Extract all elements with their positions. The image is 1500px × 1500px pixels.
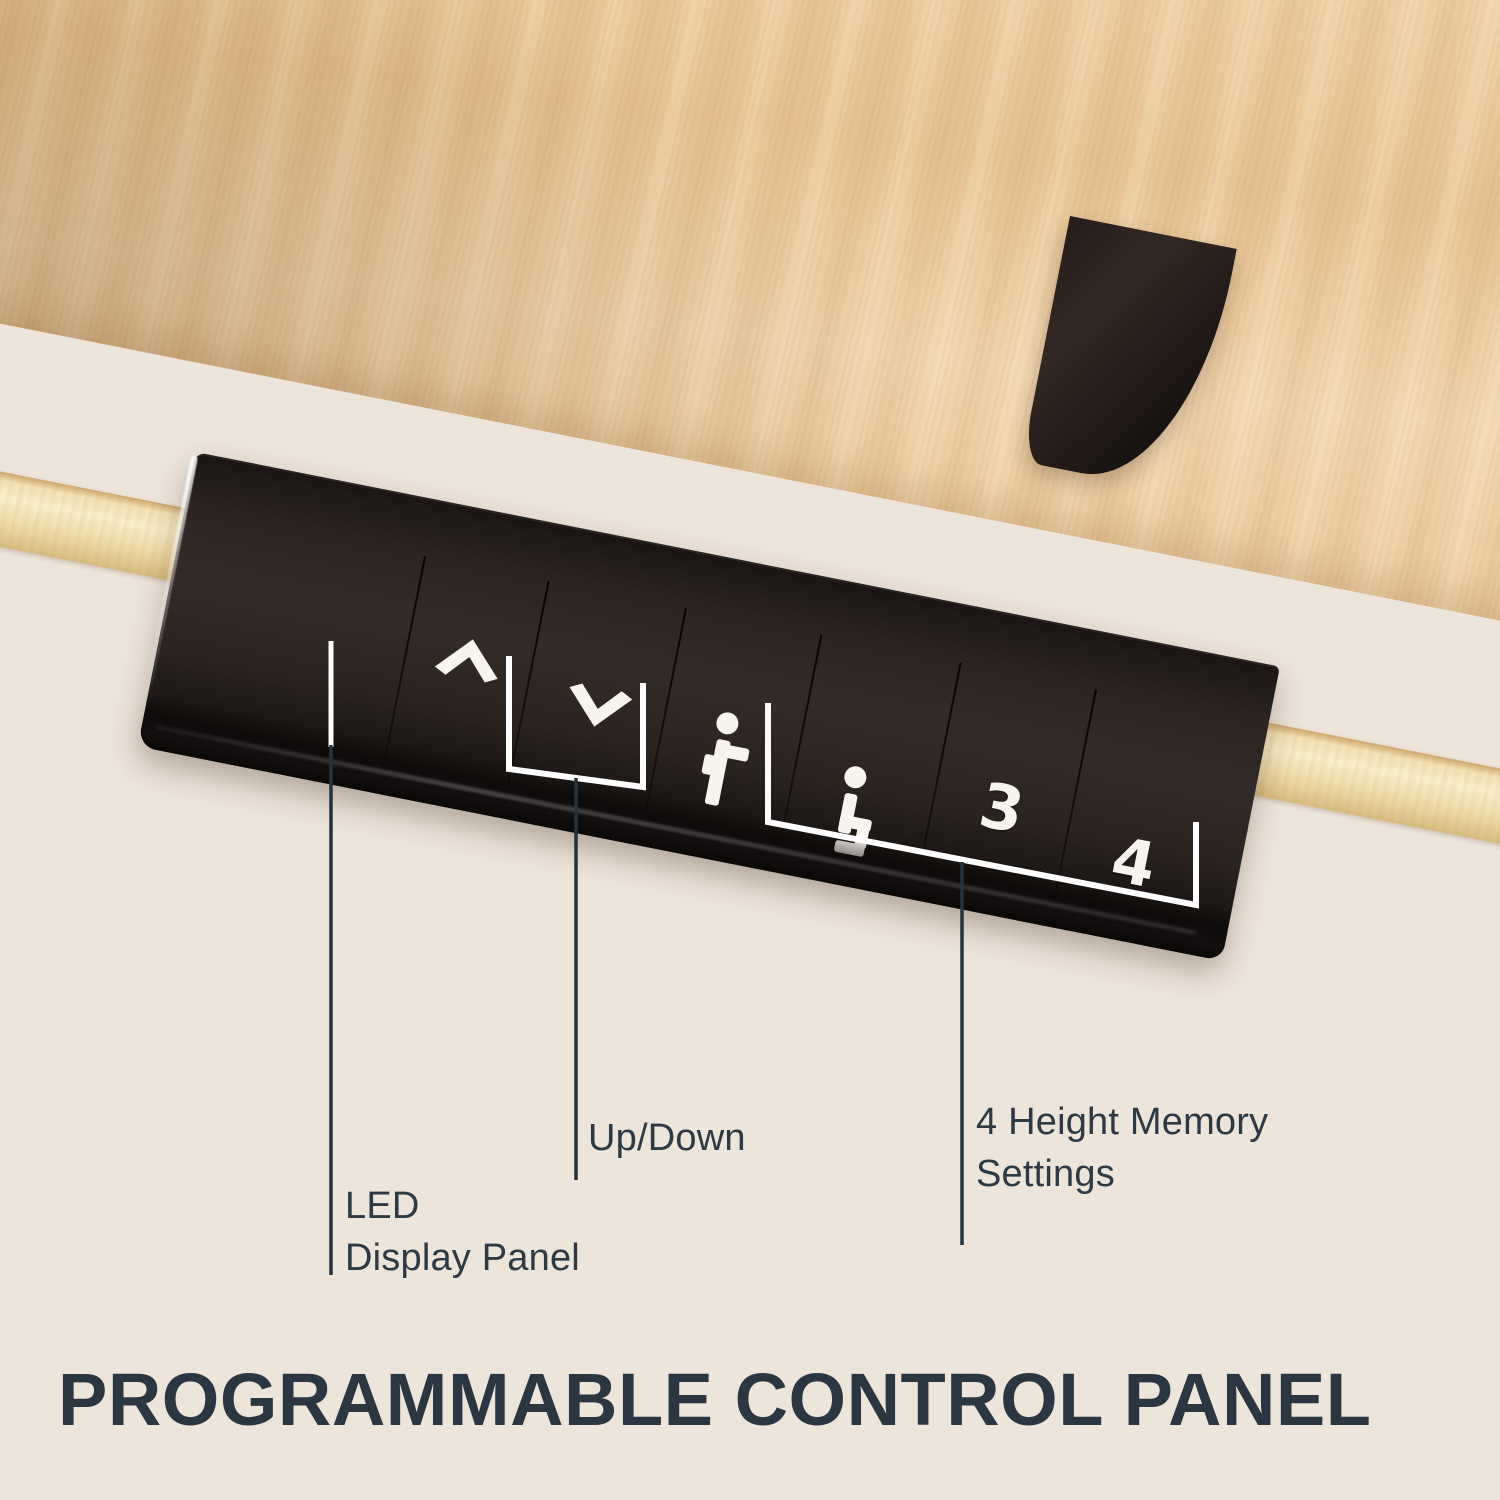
callout-label-memory: 4 Height Memory Settings (976, 1096, 1268, 1201)
page-headline: PROGRAMMABLE CONTROL PANEL (58, 1357, 1371, 1442)
callout-label-led: LED Display Panel (345, 1180, 580, 1285)
product-feature-image: 3 4 LED Display Panel Up/Down 4 Height M… (0, 0, 1500, 1500)
callout-label-updown: Up/Down (588, 1112, 746, 1164)
